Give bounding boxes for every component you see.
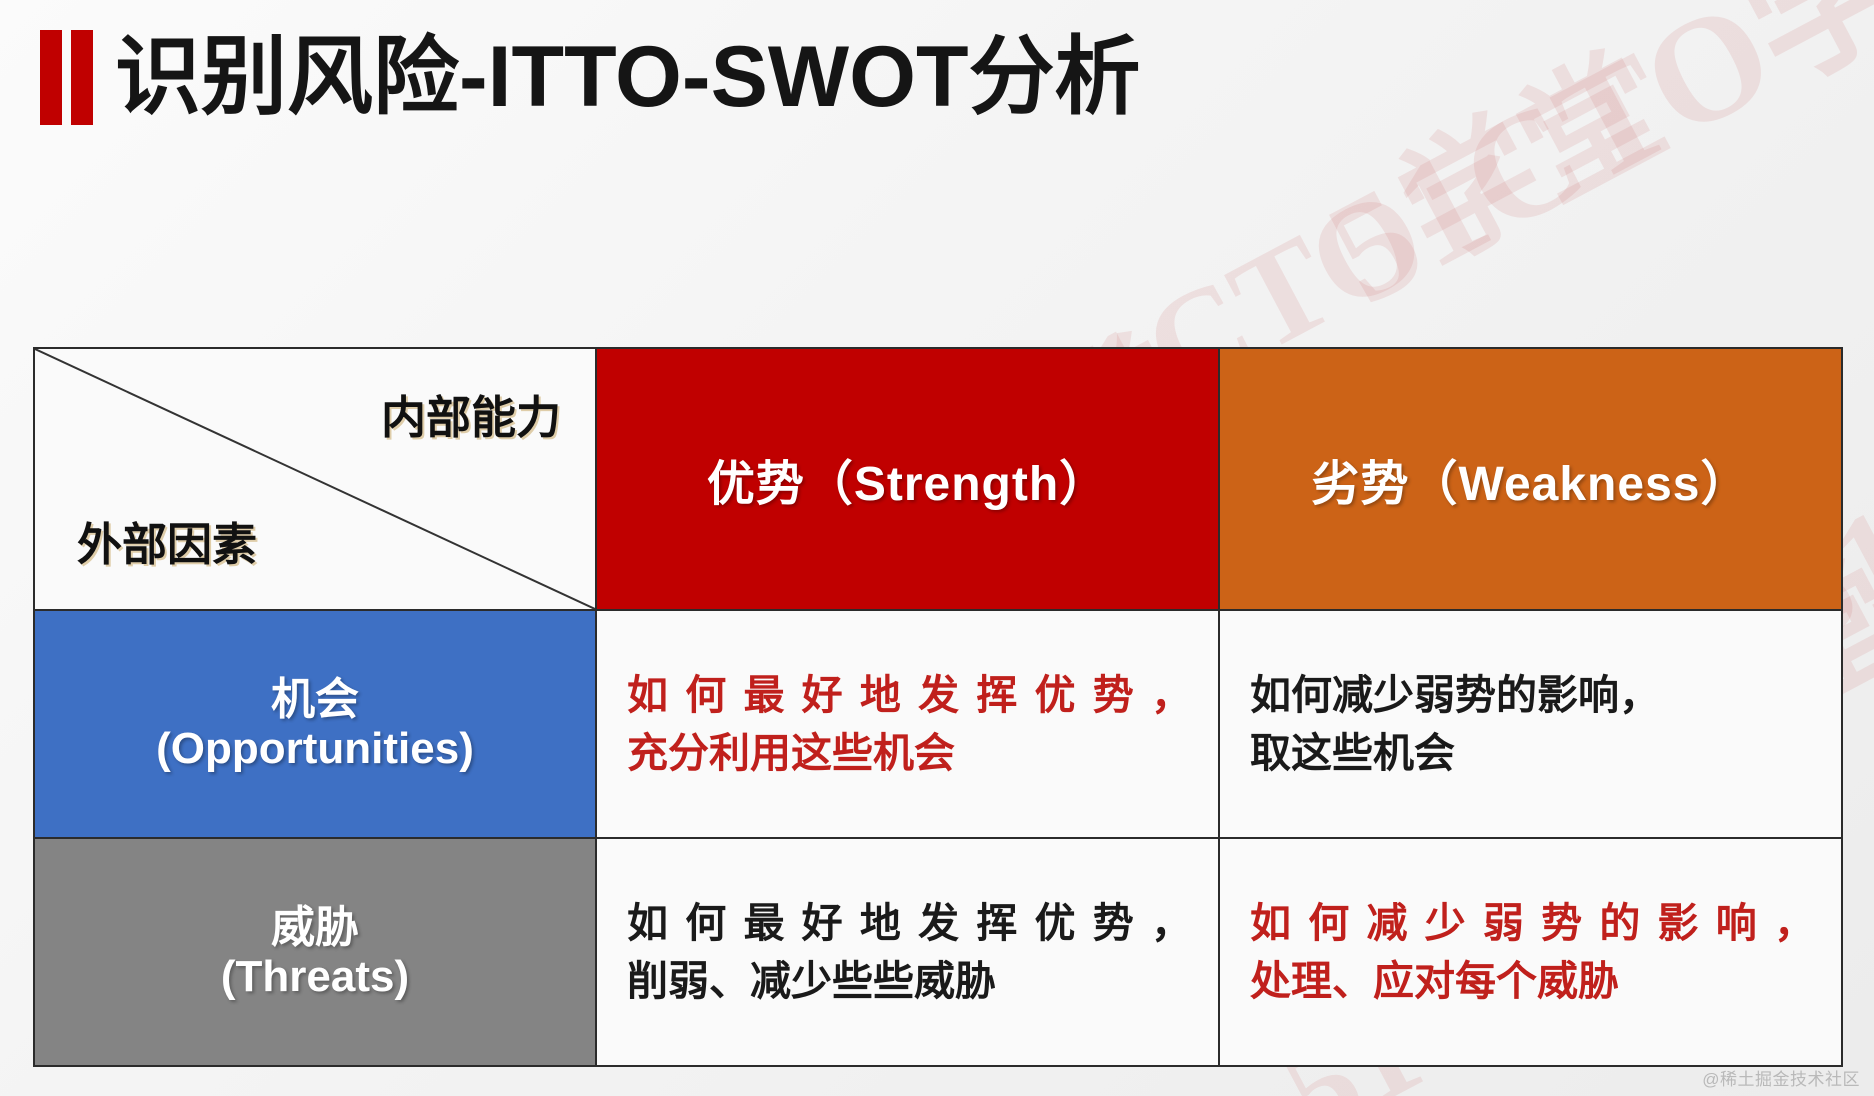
cell-wt-line1: 如何减少弱势的影响， [1250, 894, 1815, 952]
page-title: 识别风险-ITTO-SWOT分析 [115, 34, 1141, 120]
credit-watermark: @稀土掘金技术社区 [1702, 1065, 1860, 1090]
red-bar-right [71, 30, 93, 125]
row-header-threats-cn: 威胁 [271, 903, 359, 952]
column-header-strength: 优势（Strength） [596, 348, 1219, 610]
row-header-threats-en: (Threats) [35, 952, 595, 1001]
cell-st-line2: 削弱、减少些些威胁 [627, 952, 1192, 1010]
cell-so-line2: 充分利用这些机会 [627, 724, 1192, 782]
axis-corner-cell: 内部能力 外部因素 [34, 348, 596, 610]
cell-st-line1: 如何最好地发挥优势， [627, 894, 1192, 952]
cell-strength-threats: 如何最好地发挥优势， 削弱、减少些些威胁 [596, 838, 1219, 1066]
slide-title-row: 识别风险-ITTO-SWOT分析 [40, 22, 1141, 132]
table-header-row: 内部能力 外部因素 优势（Strength） 劣势（Weakness） [34, 348, 1842, 610]
row-header-opportunities-en: (Opportunities) [35, 724, 595, 773]
cell-weakness-opportunities: 如何减少弱势的影响， 取这些机会 [1219, 610, 1842, 838]
cell-strength-opportunities: 如何最好地发挥优势， 充分利用这些机会 [596, 610, 1219, 838]
internal-capability-label: 内部能力 [381, 381, 561, 446]
table-row-opportunities: 机会 (Opportunities) 如何最好地发挥优势， 充分利用这些机会 如… [34, 610, 1842, 838]
row-header-opportunities: 机会 (Opportunities) [34, 610, 596, 838]
watermark: 51CTO学堂 [1284, 0, 1874, 346]
table-row-threats: 威胁 (Threats) 如何最好地发挥优势， 削弱、减少些些威胁 如何减少弱势… [34, 838, 1842, 1066]
slide-canvas: 51CTO学堂 51CTO学堂 51CTO 51CTO学堂 51CTO学堂 51… [0, 0, 1874, 1096]
swot-matrix-table: 内部能力 外部因素 优势（Strength） 劣势（Weakness） 机会 (… [33, 347, 1843, 1067]
row-header-opportunities-cn: 机会 [271, 675, 359, 724]
red-bar-left [40, 30, 62, 125]
cell-weakness-threats: 如何减少弱势的影响， 处理、应对每个威胁 [1219, 838, 1842, 1066]
row-header-threats: 威胁 (Threats) [34, 838, 596, 1066]
cell-so-line1: 如何最好地发挥优势， [627, 666, 1192, 724]
cell-wo-line2: 取这些机会 [1250, 724, 1815, 782]
column-header-weakness: 劣势（Weakness） [1219, 348, 1842, 610]
red-double-bar-icon [40, 30, 93, 125]
cell-wt-line2: 处理、应对每个威胁 [1250, 952, 1815, 1010]
cell-wo-line1: 如何减少弱势的影响， [1250, 666, 1815, 724]
external-factor-label: 外部因素 [77, 508, 257, 573]
